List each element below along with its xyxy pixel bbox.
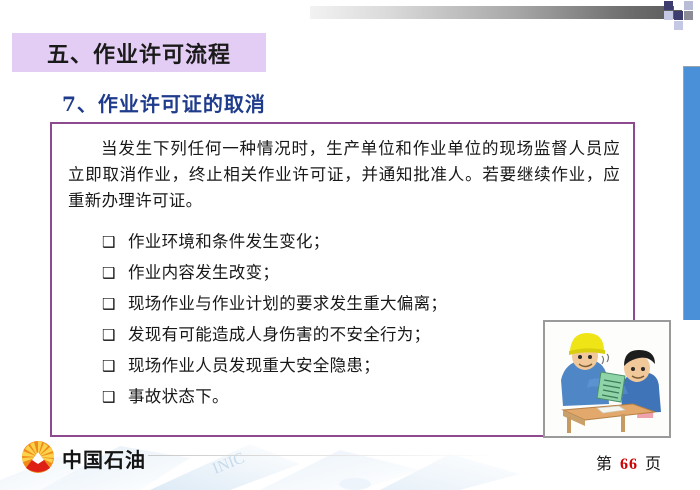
right-accent-bar xyxy=(683,66,700,320)
top-gradient-bar xyxy=(310,6,682,19)
section-title-text: 五、作业许可流程 xyxy=(47,37,231,69)
square-bullet-icon: ❑ xyxy=(102,322,128,348)
list-item-label: 事故状态下。 xyxy=(128,384,229,410)
square-bullet-icon: ❑ xyxy=(102,384,128,410)
page-number: 第 66 页 xyxy=(596,450,662,474)
checker-decoration xyxy=(662,0,700,30)
section-title-banner: 五、作业许可流程 xyxy=(12,33,266,72)
workers-illustration-art xyxy=(545,322,669,436)
list-item-label: 发现有可能造成人身伤害的不安全行为； xyxy=(128,322,430,348)
page-prefix: 第 xyxy=(596,456,613,473)
list-item: ❑ 作业环境和条件发生变化； xyxy=(102,229,622,260)
list-item: ❑ 作业内容发生改变； xyxy=(102,260,622,291)
brand-name: 中国石油 xyxy=(62,444,146,473)
square-bullet-icon: ❑ xyxy=(102,291,128,317)
square-bullet-icon: ❑ xyxy=(102,260,128,286)
workers-illustration xyxy=(543,320,671,438)
footer-divider xyxy=(148,455,493,456)
list-item-label: 现场作业人员发现重大安全隐患； xyxy=(128,353,380,379)
slide-canvas: 五、作业许可流程 7、作业许可证的取消 当发生下列任何一种情况时，生产单位和作业… xyxy=(0,0,700,490)
list-item-label: 作业环境和条件发生变化； xyxy=(128,229,330,255)
list-item-label: 现场作业与作业计划的要求发生重大偏离； xyxy=(128,291,447,317)
square-bullet-icon: ❑ xyxy=(102,353,128,379)
body-paragraph: 当发生下列任何一种情况时，生产单位和作业单位的现场监督人员应立即取消作业，终止相… xyxy=(68,136,620,214)
list-item: ❑ 现场作业与作业计划的要求发生重大偏离； xyxy=(102,291,622,322)
page-number-value: 66 xyxy=(618,456,640,473)
square-bullet-icon: ❑ xyxy=(102,229,128,255)
list-item-label: 作业内容发生改变； xyxy=(128,260,279,286)
page-suffix: 页 xyxy=(645,456,662,473)
subtitle-text: 7、作业许可证的取消 xyxy=(62,88,266,117)
petrochina-logo-icon xyxy=(17,440,59,478)
petrochina-logo-art xyxy=(17,440,59,478)
